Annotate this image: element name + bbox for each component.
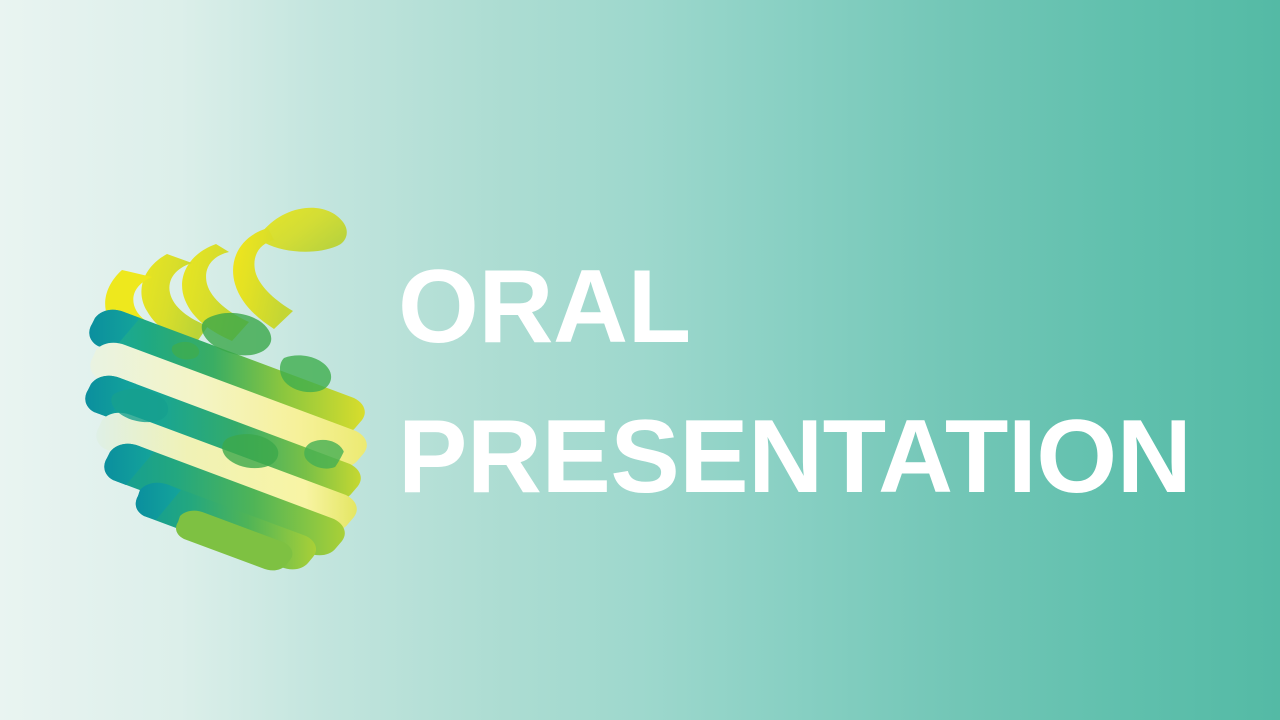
title-line-1: ORAL — [398, 232, 1218, 382]
globe-logo-svg — [88, 198, 388, 518]
globe-ribbon-leaf-logo — [88, 198, 388, 518]
presentation-slide: ORAL PRESENTATION — [0, 0, 1280, 720]
leaf-shape — [259, 208, 347, 252]
title-line-2: PRESENTATION — [398, 382, 1218, 532]
slide-title: ORAL PRESENTATION — [398, 232, 1218, 532]
